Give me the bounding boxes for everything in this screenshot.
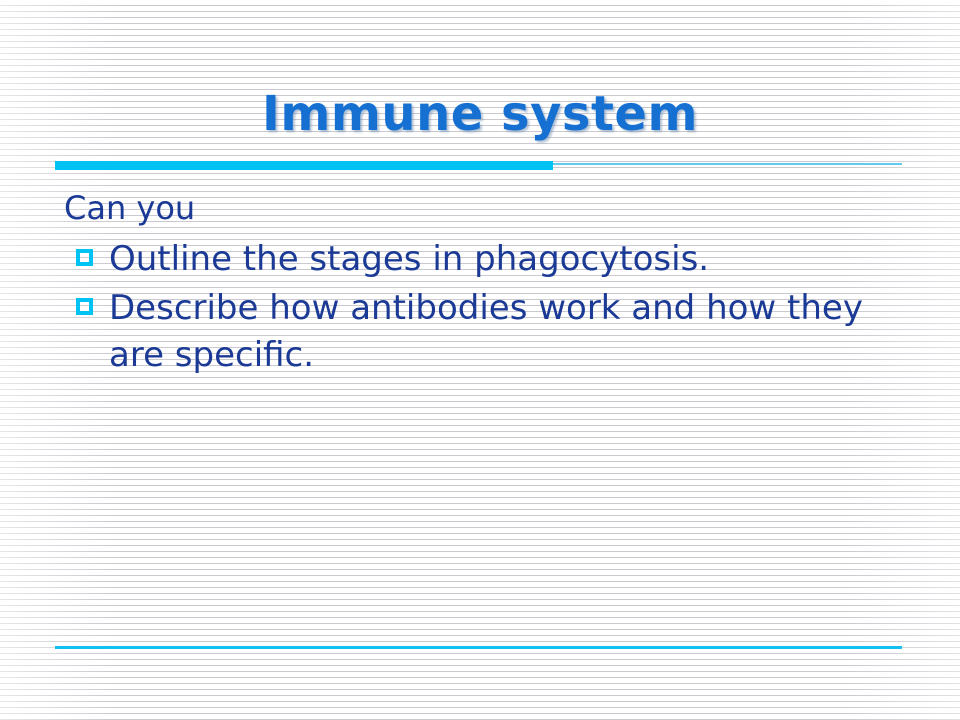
hollow-square-bullet-icon bbox=[76, 298, 93, 315]
list-item: Describe how antibodies work and how the… bbox=[62, 285, 912, 379]
lead-line: Can you bbox=[62, 186, 912, 230]
bullet-text: Outline the stages in phagocytosis. bbox=[109, 236, 912, 283]
title-underline-accent-bar bbox=[55, 161, 553, 170]
slide-body: Can you Outline the stages in phagocytos… bbox=[62, 186, 912, 381]
bullet-text: Describe how antibodies work and how the… bbox=[109, 285, 912, 379]
bullet-list: Outline the stages in phagocytosis. Desc… bbox=[62, 236, 912, 379]
slide-title: Immune system bbox=[262, 86, 698, 142]
title-block: Immune system bbox=[0, 86, 960, 142]
slide-canvas: Immune system Can you Outline the stages… bbox=[0, 0, 960, 720]
list-item: Outline the stages in phagocytosis. bbox=[62, 236, 912, 283]
footer-rule bbox=[55, 646, 902, 649]
hollow-square-bullet-icon bbox=[76, 249, 93, 266]
